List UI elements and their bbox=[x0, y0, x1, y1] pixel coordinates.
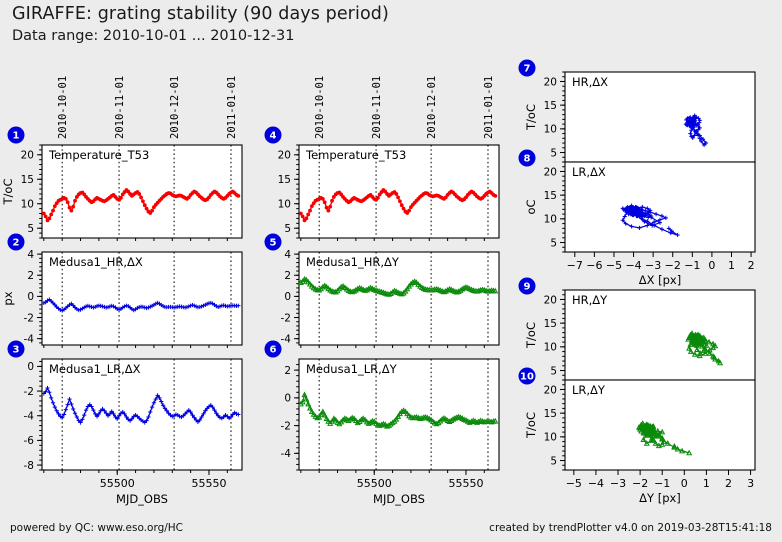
footer-credit-right: created by trendPlotter v4.0 on 2019-03-… bbox=[489, 522, 772, 534]
footer-credit-left: powered by QC: www.eso.org/HC bbox=[10, 522, 183, 534]
svg-text:0: 0 bbox=[27, 361, 34, 373]
svg-text:0: 0 bbox=[681, 477, 688, 490]
svg-text:-4: -4 bbox=[24, 411, 35, 423]
page-footer: powered by QC: www.eso.org/HC created by… bbox=[0, 516, 782, 542]
svg-text:2010-11-01: 2010-11-01 bbox=[371, 76, 383, 139]
svg-text:px: px bbox=[1, 291, 15, 305]
svg-text:20: 20 bbox=[21, 150, 34, 162]
svg-text:10: 10 bbox=[520, 372, 534, 383]
svg-text:2010-10-01: 2010-10-01 bbox=[57, 76, 69, 139]
svg-text:1: 1 bbox=[13, 131, 20, 142]
svg-text:15: 15 bbox=[544, 408, 557, 420]
svg-text:HR,ΔY: HR,ΔY bbox=[572, 293, 608, 307]
svg-text:20: 20 bbox=[544, 384, 557, 396]
svg-text:HR,ΔX: HR,ΔX bbox=[572, 75, 608, 89]
svg-text:T/oC: T/oC bbox=[524, 322, 538, 349]
svg-text:−3: −3 bbox=[610, 477, 626, 490]
svg-text:−4: −4 bbox=[625, 259, 641, 272]
svg-text:3: 3 bbox=[747, 477, 754, 490]
svg-text:6: 6 bbox=[270, 345, 277, 356]
svg-text:MJD_OBS: MJD_OBS bbox=[116, 492, 168, 506]
svg-text:Medusa1_LR,ΔX: Medusa1_LR,ΔX bbox=[49, 362, 141, 376]
panel-badge-5: 5 bbox=[265, 234, 282, 251]
panel-badge-6: 6 bbox=[265, 341, 282, 358]
svg-text:10: 10 bbox=[21, 199, 34, 211]
svg-text:ΔX [px]: ΔX [px] bbox=[639, 273, 681, 287]
svg-text:5: 5 bbox=[550, 365, 557, 377]
svg-text:Temperature_T53: Temperature_T53 bbox=[48, 148, 149, 162]
svg-text:Medusa1_HR,ΔX: Medusa1_HR,ΔX bbox=[49, 255, 143, 269]
svg-text:15: 15 bbox=[544, 190, 557, 202]
svg-text:10: 10 bbox=[544, 432, 557, 444]
svg-text:-8: -8 bbox=[24, 460, 34, 472]
svg-text:0: 0 bbox=[284, 393, 291, 405]
svg-text:−2: −2 bbox=[665, 259, 681, 272]
svg-text:2: 2 bbox=[748, 259, 755, 272]
svg-text:T/oC: T/oC bbox=[1, 179, 15, 206]
svg-text:-4: -4 bbox=[281, 448, 292, 460]
svg-text:9: 9 bbox=[524, 282, 531, 293]
svg-text:T/oC: T/oC bbox=[524, 104, 538, 131]
svg-text:20: 20 bbox=[544, 294, 557, 306]
svg-text:3: 3 bbox=[13, 345, 20, 356]
svg-text:20: 20 bbox=[278, 150, 291, 162]
svg-text:-4: -4 bbox=[24, 333, 35, 345]
svg-text:5: 5 bbox=[270, 238, 277, 249]
svg-text:0: 0 bbox=[27, 291, 34, 303]
svg-text:−5: −5 bbox=[566, 477, 582, 490]
svg-text:55550: 55550 bbox=[191, 477, 226, 490]
svg-text:15: 15 bbox=[544, 100, 557, 112]
svg-text:−1: −1 bbox=[654, 477, 670, 490]
svg-text:15: 15 bbox=[21, 174, 34, 186]
svg-text:5: 5 bbox=[550, 147, 557, 159]
svg-text:−4: −4 bbox=[588, 477, 604, 490]
svg-text:5: 5 bbox=[284, 223, 291, 235]
svg-text:15: 15 bbox=[278, 174, 291, 186]
panel-badge-7: 7 bbox=[519, 60, 536, 77]
svg-text:55500: 55500 bbox=[100, 477, 135, 490]
svg-text:−2: −2 bbox=[632, 477, 648, 490]
svg-text:2: 2 bbox=[13, 238, 20, 249]
svg-text:Medusa1_HR,ΔY: Medusa1_HR,ΔY bbox=[306, 255, 400, 269]
svg-text:8: 8 bbox=[524, 154, 531, 165]
svg-text:−1: −1 bbox=[684, 259, 700, 272]
svg-text:2: 2 bbox=[284, 365, 291, 377]
svg-text:10: 10 bbox=[544, 124, 557, 136]
svg-text:MJD_OBS: MJD_OBS bbox=[373, 492, 425, 506]
svg-text:4: 4 bbox=[27, 249, 34, 261]
svg-text:T/oC: T/oC bbox=[524, 412, 538, 439]
svg-text:55500: 55500 bbox=[357, 477, 392, 490]
svg-text:LR,ΔX: LR,ΔX bbox=[572, 165, 606, 179]
panel-badge-1: 1 bbox=[8, 127, 25, 144]
panel-badge-10: 10 bbox=[519, 368, 536, 385]
svg-text:55550: 55550 bbox=[448, 477, 483, 490]
svg-text:2010-12-01: 2010-12-01 bbox=[426, 76, 438, 139]
panel-badge-8: 8 bbox=[519, 150, 536, 167]
svg-text:oC: oC bbox=[524, 199, 538, 214]
svg-text:Temperature_T53: Temperature_T53 bbox=[305, 148, 406, 162]
svg-text:LR,ΔY: LR,ΔY bbox=[572, 383, 606, 397]
panel-badge-9: 9 bbox=[519, 278, 536, 295]
svg-text:-6: -6 bbox=[24, 435, 35, 447]
svg-text:−6: −6 bbox=[586, 259, 602, 272]
svg-text:1: 1 bbox=[728, 259, 735, 272]
svg-text:15: 15 bbox=[544, 318, 557, 330]
svg-text:Medusa1_LR,ΔY: Medusa1_LR,ΔY bbox=[306, 362, 398, 376]
svg-text:−7: −7 bbox=[567, 259, 583, 272]
svg-text:5: 5 bbox=[550, 455, 557, 467]
svg-text:2011-01-01: 2011-01-01 bbox=[483, 76, 495, 139]
svg-text:1: 1 bbox=[703, 477, 710, 490]
svg-text:2: 2 bbox=[725, 477, 732, 490]
panel-badge-4: 4 bbox=[265, 127, 282, 144]
svg-text:2010-10-01: 2010-10-01 bbox=[314, 76, 326, 139]
svg-text:2: 2 bbox=[284, 270, 291, 282]
svg-text:-2: -2 bbox=[24, 386, 34, 398]
svg-text:20: 20 bbox=[544, 76, 557, 88]
svg-text:10: 10 bbox=[544, 214, 557, 226]
svg-text:7: 7 bbox=[524, 64, 531, 75]
panel-badge-2: 2 bbox=[8, 234, 25, 251]
svg-text:5: 5 bbox=[550, 237, 557, 249]
svg-text:2: 2 bbox=[27, 270, 34, 282]
svg-text:2010-11-01: 2010-11-01 bbox=[114, 76, 126, 139]
svg-text:ΔY [px]: ΔY [px] bbox=[639, 491, 681, 505]
svg-text:10: 10 bbox=[544, 342, 557, 354]
plot-canvas: 51015202010-10-012010-11-012010-12-01201… bbox=[0, 0, 782, 542]
svg-text:5: 5 bbox=[27, 223, 34, 235]
svg-text:10: 10 bbox=[278, 199, 291, 211]
svg-text:4: 4 bbox=[284, 249, 291, 261]
svg-text:2010-12-01: 2010-12-01 bbox=[169, 76, 181, 139]
svg-text:-2: -2 bbox=[281, 420, 291, 432]
svg-text:-2: -2 bbox=[24, 312, 34, 324]
svg-text:−3: −3 bbox=[645, 259, 661, 272]
svg-text:-4: -4 bbox=[281, 333, 292, 345]
svg-text:−5: −5 bbox=[606, 259, 622, 272]
svg-text:20: 20 bbox=[544, 166, 557, 178]
svg-text:0: 0 bbox=[284, 291, 291, 303]
svg-text:-2: -2 bbox=[281, 312, 291, 324]
svg-text:4: 4 bbox=[270, 131, 277, 142]
panel-badge-3: 3 bbox=[8, 341, 25, 358]
svg-text:2011-01-01: 2011-01-01 bbox=[226, 76, 238, 139]
svg-text:0: 0 bbox=[708, 259, 715, 272]
